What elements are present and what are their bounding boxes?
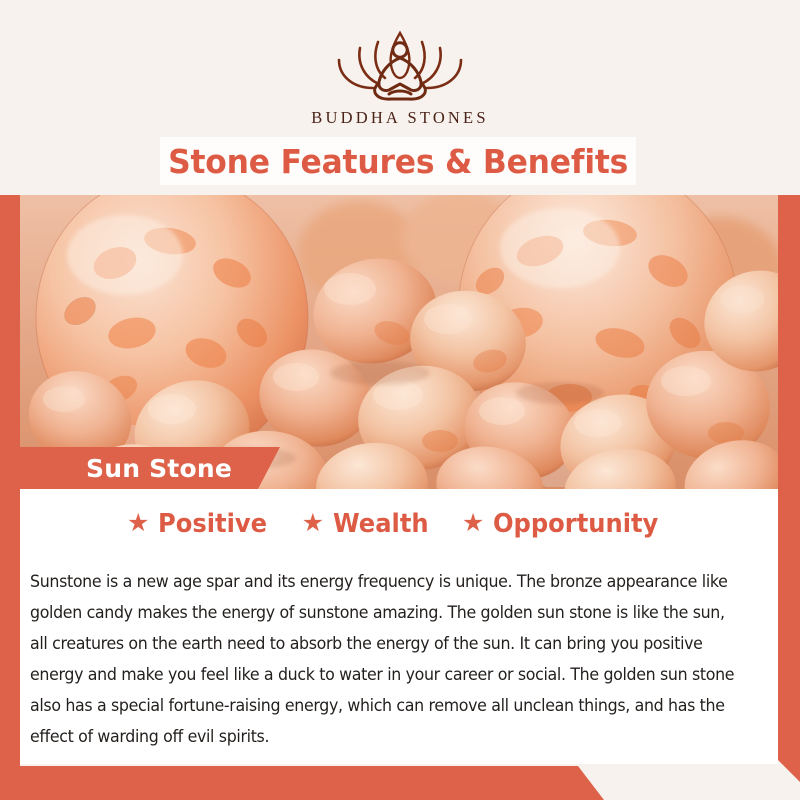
frame-right-accent <box>778 0 800 800</box>
sunstone-photo-artwork <box>20 193 778 490</box>
lotus-meditation-figure-icon <box>315 22 485 104</box>
frame-bottom-accent <box>0 766 800 800</box>
keyword-item-opportunity: ★ Opportunity <box>462 509 671 539</box>
infographic-page: BUDDHA STONES Stone Features & Benefits … <box>0 0 800 800</box>
keyword-label: Opportunity <box>493 509 658 539</box>
description-paragraph: Sunstone is a new age spar and its energ… <box>30 566 746 752</box>
page-title-band: Stone Features & Benefits <box>160 137 636 185</box>
stone-name-banner: Sun Stone <box>0 447 280 489</box>
star-icon: ★ <box>302 511 324 536</box>
keyword-row: ★ Positive ★ Wealth ★ Opportunity <box>20 509 778 539</box>
brand-name: BUDDHA STONES <box>311 108 488 128</box>
keyword-item-wealth: ★ Wealth <box>302 509 436 539</box>
star-icon: ★ <box>127 511 149 536</box>
page-title: Stone Features & Benefits <box>168 142 628 181</box>
keyword-item-positive: ★ Positive <box>127 509 276 539</box>
sunstone-photo <box>20 193 778 490</box>
keyword-label: Wealth <box>333 509 429 539</box>
frame-top-accent <box>0 0 800 34</box>
keyword-label: Positive <box>158 509 267 539</box>
star-icon: ★ <box>462 511 484 536</box>
stone-name: Sun Stone <box>86 454 232 483</box>
brand-logo: BUDDHA STONES <box>0 22 800 128</box>
